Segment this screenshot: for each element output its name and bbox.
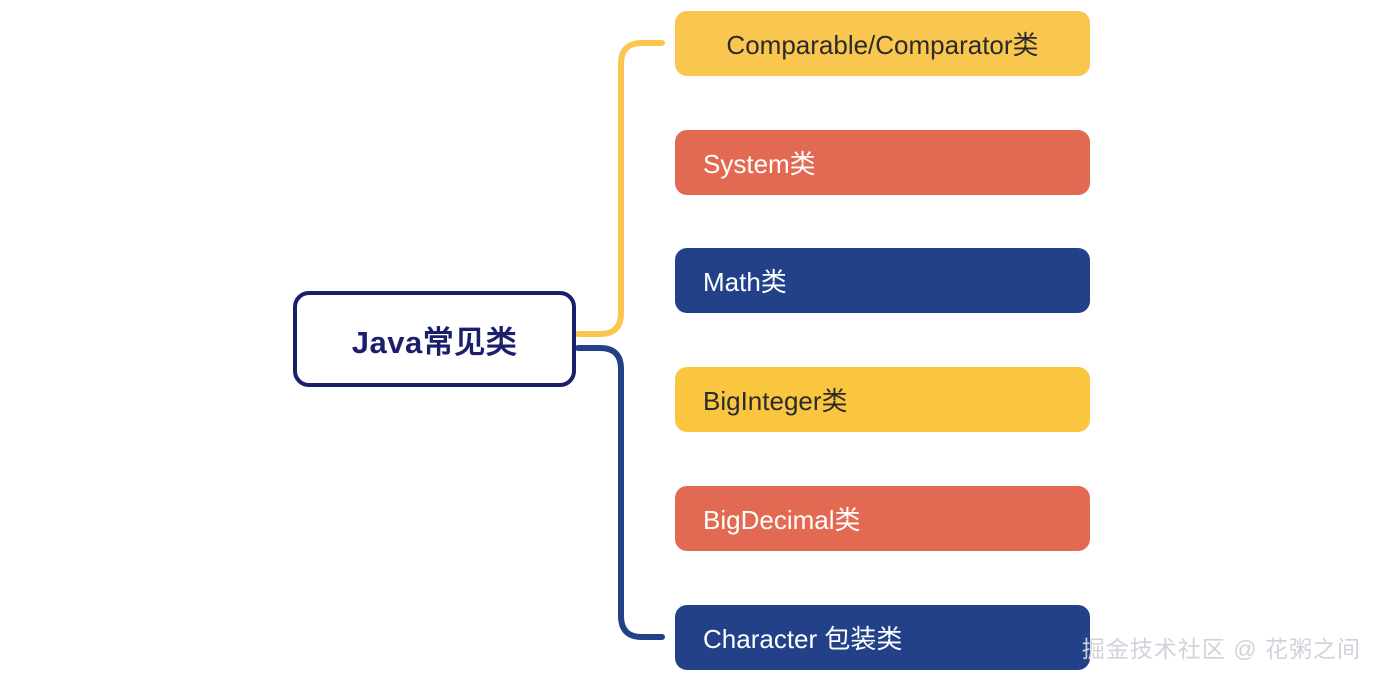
node-system-label: System类 (703, 144, 816, 181)
node-character-wrapper-label: Character 包装类 (703, 619, 902, 656)
connector-lines (0, 0, 1379, 682)
lower-bracket-path (578, 348, 662, 637)
node-biginteger-label: BigInteger类 (703, 381, 848, 418)
watermark-text: 掘金技术社区 @ 花粥之间 (1082, 630, 1361, 664)
node-math[interactable]: Math类 (675, 248, 1090, 313)
node-character-wrapper[interactable]: Character 包装类 (675, 605, 1090, 670)
mindmap-canvas: Java常见类 Comparable/Comparator类 System类 M… (0, 0, 1379, 682)
node-bigdecimal-label: BigDecimal类 (703, 500, 861, 537)
node-comparable-comparator-label: Comparable/Comparator类 (726, 25, 1038, 62)
root-node-label: Java常见类 (352, 317, 517, 362)
node-bigdecimal[interactable]: BigDecimal类 (675, 486, 1090, 551)
upper-bracket-path (578, 43, 662, 334)
node-biginteger[interactable]: BigInteger类 (675, 367, 1090, 432)
node-comparable-comparator[interactable]: Comparable/Comparator类 (675, 11, 1090, 76)
node-math-label: Math类 (703, 262, 787, 299)
node-system[interactable]: System类 (675, 130, 1090, 195)
root-node[interactable]: Java常见类 (293, 291, 576, 387)
